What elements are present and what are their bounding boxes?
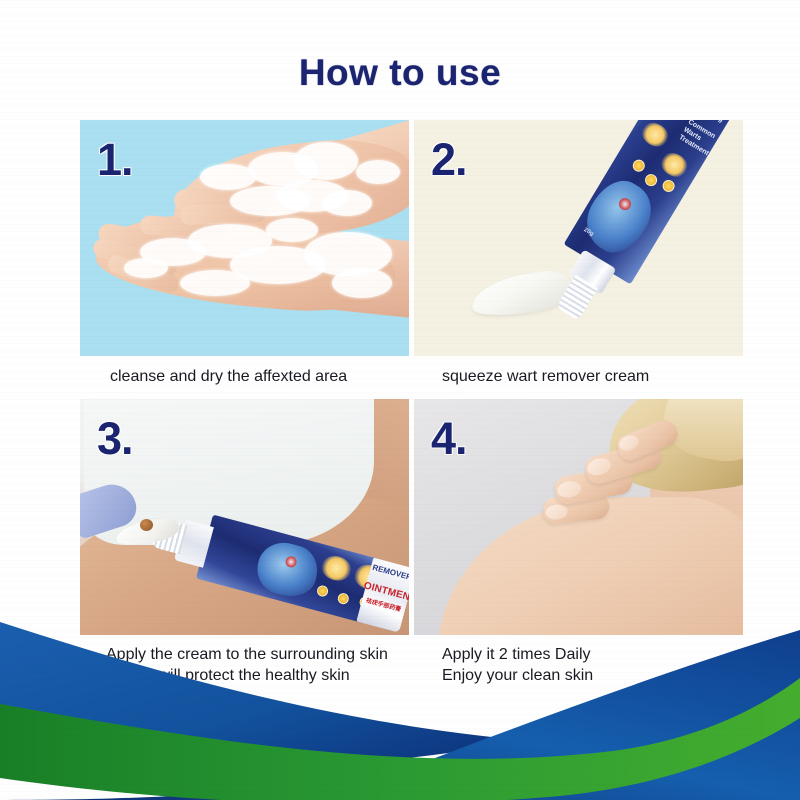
step-4-image: 4. [414, 399, 743, 635]
soap-foam [332, 268, 392, 298]
ribbon-green [0, 678, 800, 800]
product-tube: Natural Herbal Ingredients Skin Tag & Co… [532, 120, 743, 338]
soap-foam [294, 142, 358, 180]
step-4: 4. Apply it 2 times Daily Enjoy your cle… [414, 399, 745, 686]
step-1-caption: cleanse and dry the affexted area [80, 356, 411, 387]
feature-badge-3 [660, 178, 676, 194]
step-4-number: 4. [431, 413, 467, 465]
steps-row-top: 1. cleanse and dry the affexted area [80, 120, 745, 387]
step-4-caption: Apply it 2 times Daily Enjoy your clean … [414, 635, 745, 686]
soap-foam [356, 160, 400, 184]
soap-foam [266, 218, 318, 242]
tube-feature-right: Skin Tag & Common Warts Treatment [677, 120, 729, 158]
step-3: Natural Herbal Ingredients Skin Tag & Co… [80, 399, 411, 686]
step-1: 1. cleanse and dry the affexted area [80, 120, 411, 387]
step-3-number: 3. [97, 413, 133, 465]
soap-foam [180, 270, 250, 296]
step-2-image: Natural Herbal Ingredients Skin Tag & Co… [414, 120, 743, 356]
glow-spot-2 [657, 148, 692, 181]
soap-foam [124, 258, 168, 278]
step-3-image: Natural Herbal Ingredients Skin Tag & Co… [80, 399, 409, 635]
glow-spot-1 [637, 120, 672, 151]
steps-row-bottom: Natural Herbal Ingredients Skin Tag & Co… [80, 399, 745, 686]
feature-badge-1 [631, 157, 647, 173]
promo-infographic: How to use [0, 0, 800, 800]
tube-hand-graphic [252, 537, 323, 603]
step-2-caption: squeeze wart remover cream [414, 356, 745, 387]
steps-grid: 1. cleanse and dry the affexted area [80, 120, 745, 686]
step-2-number: 2. [431, 134, 467, 186]
page-title: How to use [0, 52, 800, 94]
step-1-image: 1. [80, 120, 409, 356]
feature-badge-2 [337, 592, 350, 605]
step-2: Natural Herbal Ingredients Skin Tag & Co… [414, 120, 745, 387]
wart-spot [140, 519, 153, 531]
glow-spot-1 [319, 553, 354, 584]
step-1-number: 1. [97, 134, 133, 186]
soap-foam [322, 190, 372, 216]
step-3-caption: Apply the cream to the surrounding skin … [80, 635, 411, 686]
feature-badge-1 [316, 584, 329, 597]
feature-badge-2 [643, 172, 659, 188]
